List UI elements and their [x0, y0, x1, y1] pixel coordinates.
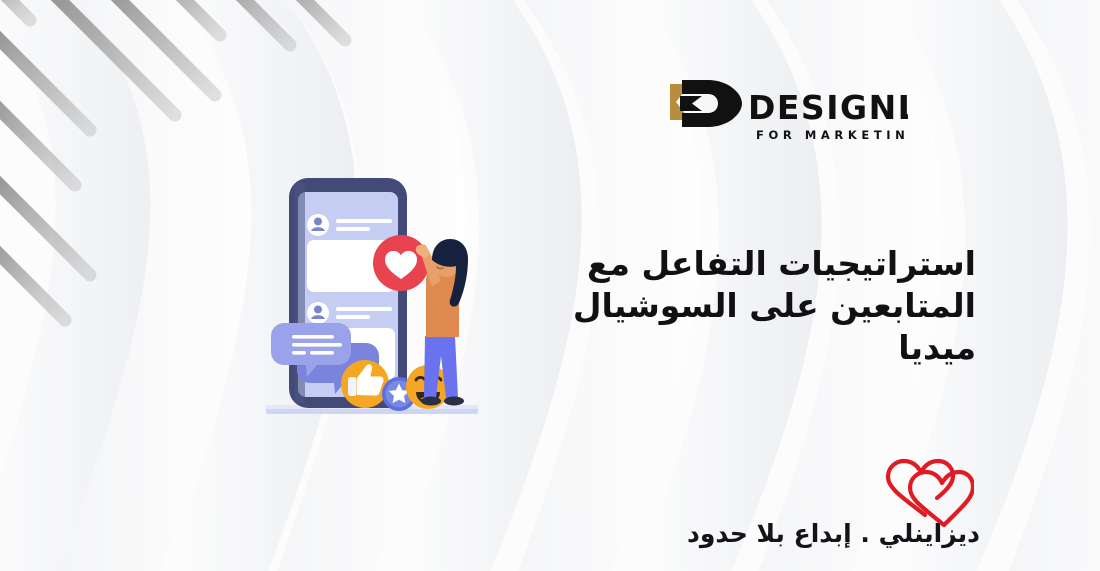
headline-text: استراتيجيات التفاعل مع المتابعين على الس… [556, 243, 976, 370]
thumbs-up-reaction [341, 360, 389, 408]
double-heart-icon [880, 457, 974, 529]
logo-monogram-d [680, 80, 742, 127]
social-engagement-illustration [262, 168, 498, 438]
designly-logo: DESIGNLY FOR MARKETING [668, 78, 908, 148]
tagline-block: ديزاينلي . إبداع بلا حدود [687, 519, 980, 549]
marketing-banner: DESIGNLY FOR MARKETING استراتيجيات التفا… [0, 0, 1100, 571]
halftone-dots-bottom-left [0, 451, 200, 571]
halftone-dots-top-right [930, 0, 1100, 140]
logo-subtitle: FOR MARKETING [756, 128, 908, 142]
logo-wordmark: DESIGNLY [748, 88, 908, 127]
heart-reaction-badge [373, 235, 429, 291]
